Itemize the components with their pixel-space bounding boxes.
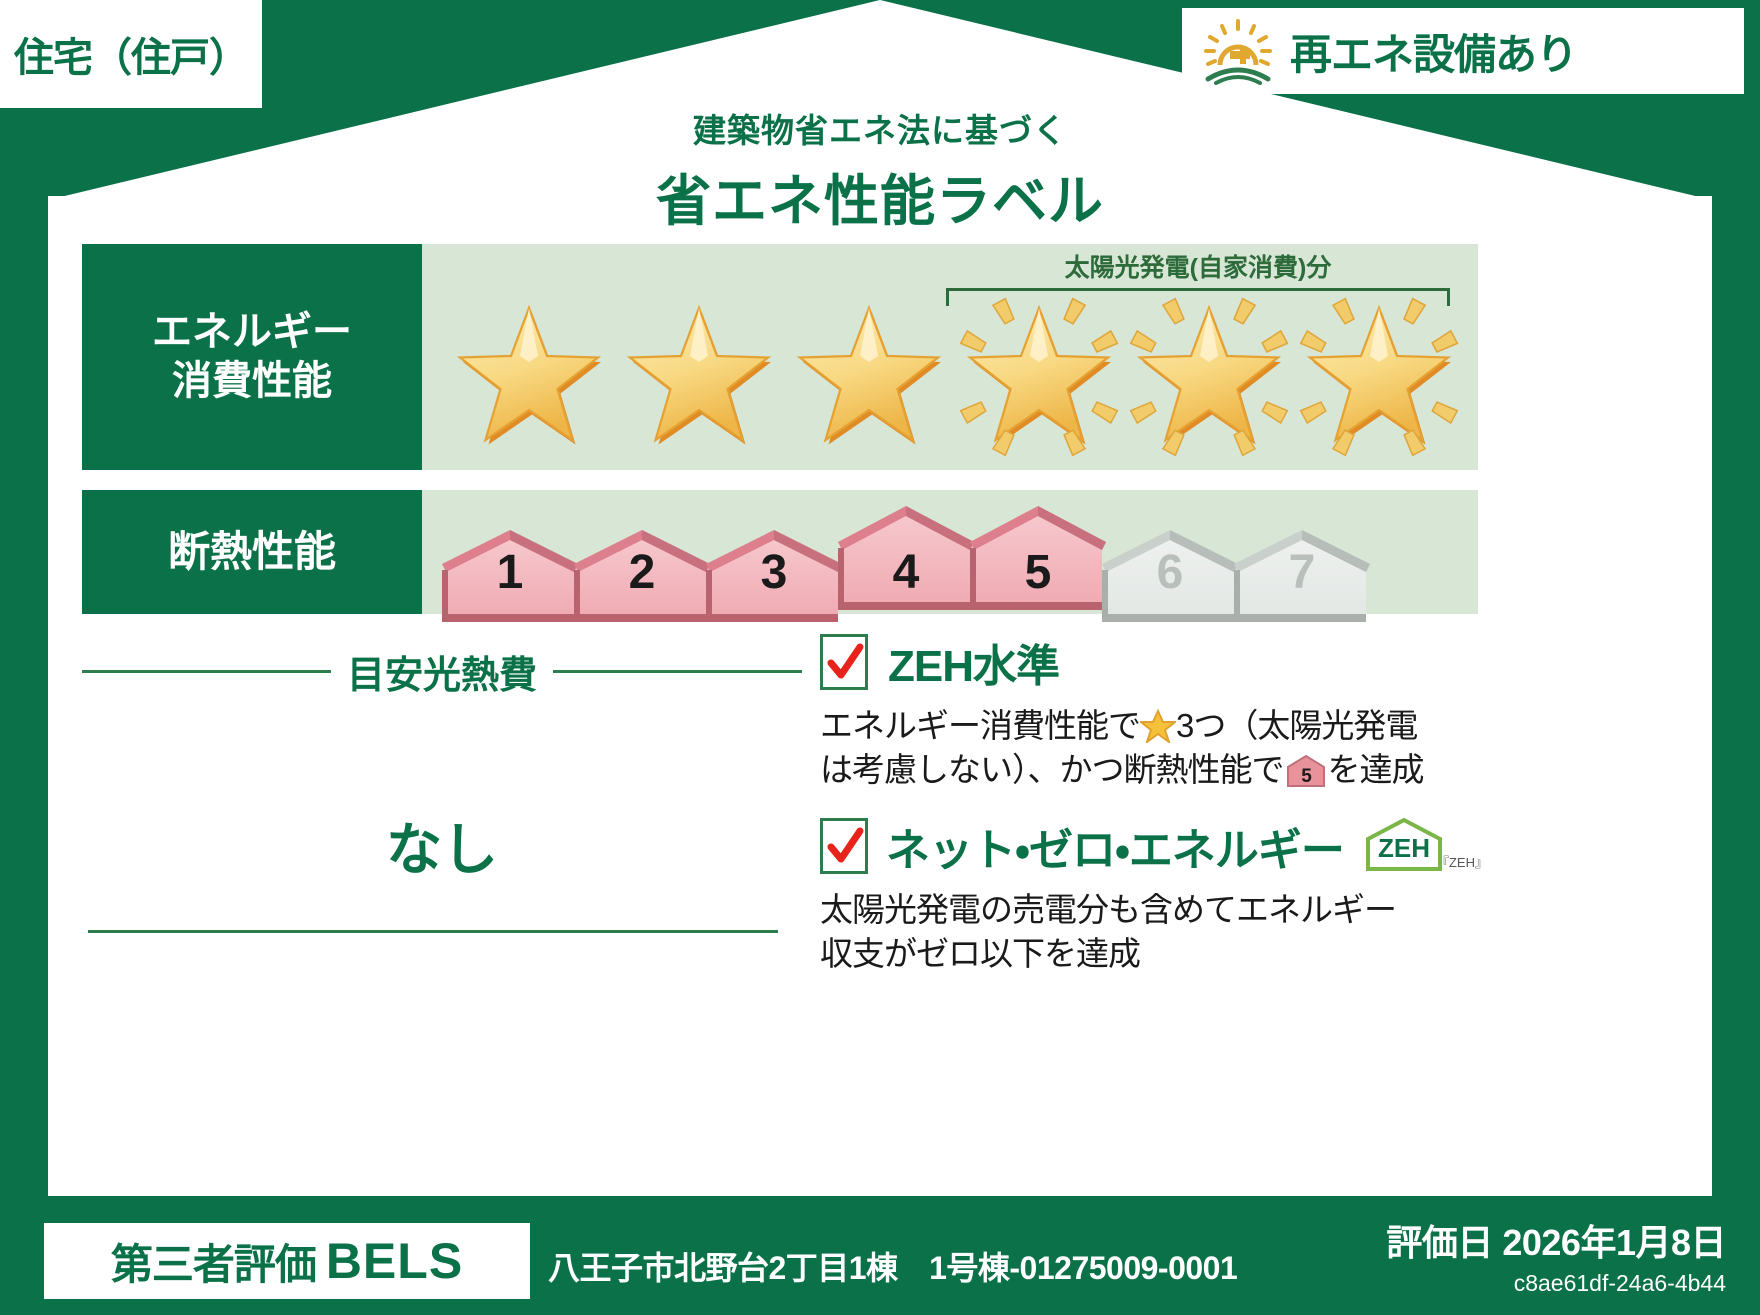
insulation-level-6: 6 — [1102, 518, 1238, 610]
star-base — [614, 292, 784, 462]
insulation-performance-heading: 断熱性能 — [82, 490, 422, 614]
utility-cost-header: 目安光熱費 — [82, 644, 802, 699]
netzero-desc-line1: 太陽光発電の売電分も含めてエネルギー — [820, 891, 1396, 928]
check-icon — [825, 823, 865, 871]
utility-cost-section: 目安光熱費 なし — [82, 630, 802, 1030]
bels-wordmark: BELS — [326, 1232, 463, 1290]
evaluation-info: 評価日 2026年1月8日 c8ae61df-24a6-4b44 — [1386, 1214, 1726, 1297]
category-badge-label: 住宅（住戸） — [14, 25, 248, 83]
zeh-standard-checkbox[interactable] — [820, 634, 868, 690]
category-badge: 住宅（住戸） — [0, 0, 262, 108]
evaluation-date: 評価日 2026年1月8日 — [1386, 1214, 1726, 1266]
insulation-level-1: 1 — [442, 518, 578, 610]
star-icon — [1304, 302, 1454, 452]
insulation-level-5: 5 — [970, 506, 1106, 610]
inline-insulation-level-icon: 5 — [1284, 753, 1328, 789]
star-solar — [954, 292, 1124, 462]
zeh-desc-star-count: 3つ（太陽光発電 — [1176, 707, 1417, 744]
netzero-header: ネット・ゼロ・エネルギー ZEH 『ZEH』 — [820, 814, 1678, 878]
insulation-level-3: 3 — [706, 518, 842, 610]
zeh-logo-icon: ZEH 『ZEH』 — [1362, 817, 1482, 875]
bels-eval-label: 第三者評価 — [111, 1231, 316, 1292]
star-base — [444, 292, 614, 462]
zeh-desc-part3: を達成 — [1328, 751, 1424, 788]
zeh-desc-part2: は考慮しない）、かつ断熱性能で — [820, 751, 1284, 788]
solar-annotation-label: 太陽光発電(自家消費)分 — [944, 248, 1452, 284]
energy-performance-body: 太陽光発電(自家消費)分 — [422, 244, 1478, 470]
insulation-level-number: 2 — [574, 545, 710, 600]
insulation-level-7: 7 — [1234, 518, 1370, 610]
sun-renewable-icon — [1200, 17, 1276, 85]
energy-performance-heading: エネルギー 消費性能 — [82, 244, 422, 470]
star-solar — [1124, 292, 1294, 462]
insulation-level-4: 4 — [838, 506, 974, 610]
energy-performance-row: エネルギー 消費性能 太陽光発電(自家消費)分 — [82, 244, 1478, 470]
property-address: 八王子市北野台2丁目1棟 1号棟-01275009-0001 — [548, 1243, 1237, 1289]
insulation-level-number: 4 — [838, 545, 974, 600]
renewable-equipment-badge: 再エネ設備あり — [1182, 8, 1744, 94]
title-main: 省エネ性能ラベル — [0, 156, 1760, 236]
bels-energy-label: 住宅（住戸） 再エネ設備あり 建築物省エネ法に基づく 省エネ性能ラベル — [0, 0, 1760, 1315]
bels-badge: 第三者評価 BELS — [44, 1223, 530, 1299]
star-icon — [794, 302, 944, 452]
utility-bottom-divider — [88, 930, 778, 933]
footer: 第三者評価 BELS 八王子市北野台2丁目1棟 1号棟-01275009-000… — [0, 1195, 1760, 1315]
renewable-badge-label: 再エネ設備あり — [1290, 21, 1577, 82]
insulation-level-number: 7 — [1234, 545, 1370, 600]
utility-header-line-right — [553, 670, 802, 673]
zeh-standard-header: ZEH水準 — [820, 630, 1678, 694]
utility-cost-value: なし — [82, 805, 802, 886]
zeh-section: ZEH水準 エネルギー消費性能で3つ（太陽光発電は考慮しない）、かつ断熱性能で5… — [802, 630, 1678, 1030]
netzero-desc-line2: 収支がゼロ以下を達成 — [820, 935, 1140, 972]
netzero-label: ネット・ゼロ・エネルギー — [886, 814, 1344, 878]
insulation-level-2: 2 — [574, 518, 710, 610]
star-icon — [454, 302, 604, 452]
zeh-standard-label: ZEH水準 — [888, 630, 1059, 694]
insulation-level-number: 3 — [706, 545, 842, 600]
label-title: 建築物省エネ法に基づく 省エネ性能ラベル — [0, 104, 1760, 236]
star-base — [784, 292, 954, 462]
insulation-level-number: 1 — [442, 545, 578, 600]
check-icon — [825, 639, 865, 687]
zeh-desc-part1: エネルギー消費性能で — [820, 707, 1140, 744]
star-solar — [1294, 292, 1464, 462]
star-icon — [1134, 302, 1284, 452]
insulation-performance-row: 断熱性能 1234567 — [82, 490, 1478, 614]
zeh-logo-text: ZEH — [1378, 833, 1430, 863]
insulation-performance-body: 1234567 — [422, 490, 1478, 614]
lower-section: 目安光熱費 なし ZEH水準 エネルギー消費性能で3つ（太陽光発電は考慮しない）… — [82, 630, 1678, 1030]
evaluation-id: c8ae61df-24a6-4b44 — [1386, 1270, 1726, 1297]
svg-text:5: 5 — [1301, 766, 1312, 787]
title-subtitle: 建築物省エネ法に基づく — [0, 104, 1760, 152]
insulation-level-number: 6 — [1102, 545, 1238, 600]
energy-heading-line2: 消費性能 — [172, 357, 332, 406]
zeh-standard-description: エネルギー消費性能で3つ（太陽光発電は考慮しない）、かつ断熱性能で5を達成 — [820, 704, 1678, 792]
inline-star-icon — [1140, 709, 1176, 743]
insulation-level-scale: 1234567 — [442, 506, 1366, 610]
utility-header-line-left — [82, 670, 331, 673]
zeh-logo-sub: 『ZEH』 — [1436, 855, 1482, 870]
utility-cost-label: 目安光熱費 — [347, 644, 537, 699]
star-icon — [964, 302, 1114, 452]
energy-heading-line1: エネルギー — [152, 308, 352, 357]
netzero-checkbox[interactable] — [820, 818, 868, 874]
energy-star-rating — [444, 292, 1468, 462]
insulation-level-number: 5 — [970, 545, 1106, 600]
star-icon — [624, 302, 774, 452]
netzero-description: 太陽光発電の売電分も含めてエネルギー 収支がゼロ以下を達成 — [820, 888, 1678, 976]
